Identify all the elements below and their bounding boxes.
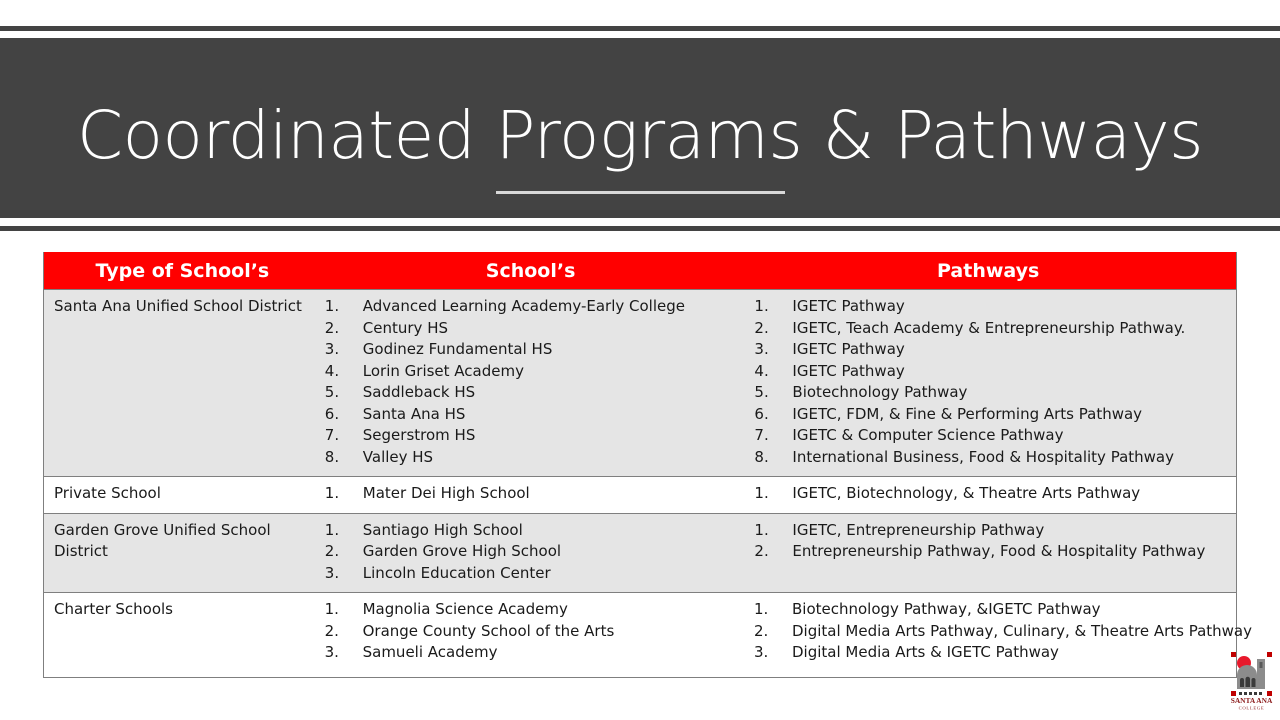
- list-number: 3.: [325, 339, 355, 361]
- list-text: Saddleback HS: [363, 383, 475, 401]
- list-number: 7.: [754, 425, 784, 447]
- list-number: 8.: [754, 447, 784, 469]
- logo-wordmark-secondary: COLLEGE: [1239, 706, 1265, 711]
- list-item: 7.IGETC & Computer Science Pathway: [754, 425, 1236, 447]
- list-number: 3.: [325, 563, 355, 585]
- list-number: 3.: [754, 642, 784, 664]
- column-header-type-of-schools: Type of School’s: [44, 252, 321, 289]
- list-item: 1.IGETC, Biotechnology, & Theatre Arts P…: [754, 483, 1236, 505]
- list-item: 2.Digital Media Arts Pathway, Culinary, …: [754, 621, 1236, 643]
- list-number: 6.: [325, 404, 355, 426]
- list-text: IGETC, Teach Academy & Entrepreneurship …: [792, 319, 1185, 337]
- list-text: IGETC Pathway: [792, 297, 904, 315]
- list-number: 2.: [754, 318, 784, 340]
- table-row: Garden Grove Unified School District 1.S…: [44, 513, 1236, 593]
- list-text: Lorin Griset Academy: [363, 362, 524, 380]
- list-text: Century HS: [363, 319, 448, 337]
- list-number: 2.: [325, 318, 355, 340]
- list-text: Digital Media Arts Pathway, Culinary, & …: [792, 622, 1252, 640]
- list-number: 1.: [754, 520, 784, 542]
- cell-pathways: 1.IGETC, Entrepreneurship Pathway 2.Entr…: [740, 514, 1236, 593]
- list-text: Segerstrom HS: [363, 426, 476, 444]
- list-text: Orange County School of the Arts: [363, 622, 615, 640]
- pathways-list: 1.IGETC, Entrepreneurship Pathway 2.Entr…: [754, 520, 1236, 563]
- schools-list: 1.Santiago High School 2.Garden Grove Hi…: [43, 520, 741, 585]
- pathways-list: 1.Biotechnology Pathway, &IGETC Pathway …: [754, 599, 1236, 664]
- santa-ana-college-logo: SANTA ANA COLLEGE: [1231, 651, 1273, 711]
- cell-schools: 1.Mater Dei High School: [321, 477, 741, 513]
- list-number: 4.: [325, 361, 355, 383]
- list-item: 8.International Business, Food & Hospita…: [754, 447, 1236, 469]
- schools-list: 1.Mater Dei High School: [43, 483, 741, 505]
- list-text: International Business, Food & Hospitali…: [792, 448, 1174, 466]
- list-number: 3.: [754, 339, 784, 361]
- list-text: Samueli Academy: [363, 643, 498, 661]
- list-item: 1.Biotechnology Pathway, &IGETC Pathway: [754, 599, 1236, 621]
- list-number: 5.: [325, 382, 355, 404]
- list-text: Godinez Fundamental HS: [363, 340, 553, 358]
- list-item: 2.Entrepreneurship Pathway, Food & Hospi…: [754, 541, 1236, 563]
- table-row: Santa Ana Unified School District 1.Adva…: [44, 290, 1236, 476]
- title-underline: [496, 191, 785, 194]
- table-row: Private School 1.Mater Dei High School 1…: [44, 476, 1236, 513]
- list-text: Lincoln Education Center: [363, 564, 551, 582]
- list-item: 7.Segerstrom HS: [325, 425, 741, 447]
- list-number: 1.: [325, 483, 355, 505]
- list-item: 2.IGETC, Teach Academy & Entrepreneurshi…: [754, 318, 1236, 340]
- list-item: 1.Magnolia Science Academy: [325, 599, 740, 621]
- list-number: 2.: [325, 621, 355, 643]
- column-header-pathways: Pathways: [740, 252, 1236, 289]
- cell-schools: 1.Santiago High School 2.Garden Grove Hi…: [321, 514, 741, 593]
- list-item: 5.Saddleback HS: [325, 382, 741, 404]
- list-item: 1.Mater Dei High School: [325, 483, 741, 505]
- title-banner: Coordinated Programs & Pathways: [0, 38, 1280, 218]
- list-item: 8.Valley HS: [325, 447, 741, 469]
- list-number: 4.: [754, 361, 784, 383]
- list-text: IGETC, FDM, & Fine & Performing Arts Pat…: [792, 405, 1142, 423]
- list-text: IGETC, Biotechnology, & Theatre Arts Pat…: [792, 484, 1140, 502]
- list-number: 8.: [325, 447, 355, 469]
- cell-pathways: 1.Biotechnology Pathway, &IGETC Pathway …: [740, 593, 1236, 677]
- list-text: Biotechnology Pathway: [792, 383, 967, 401]
- list-text: Advanced Learning Academy-Early College: [363, 297, 685, 315]
- programs-table: Type of School’s School’s Pathways Santa…: [43, 252, 1237, 678]
- cell-pathways: 1.IGETC, Biotechnology, & Theatre Arts P…: [740, 477, 1236, 513]
- list-text: Santa Ana HS: [363, 405, 466, 423]
- list-item: 4.Lorin Griset Academy: [325, 361, 741, 383]
- cell-schools: 1.Magnolia Science Academy 2.Orange Coun…: [321, 593, 740, 677]
- list-item: 2.Century HS: [325, 318, 741, 340]
- list-number: 1.: [325, 296, 355, 318]
- list-item: 6.Santa Ana HS: [325, 404, 741, 426]
- table-row: Charter Schools 1.Magnolia Science Acade…: [44, 592, 1236, 677]
- list-item: 2.Orange County School of the Arts: [325, 621, 740, 643]
- list-item: 3.Digital Media Arts & IGETC Pathway: [754, 642, 1236, 664]
- list-number: 2.: [754, 621, 784, 643]
- list-text: IGETC, Entrepreneurship Pathway: [792, 521, 1044, 539]
- logo-wordmark-primary: SANTA ANA: [1231, 696, 1273, 705]
- list-text: IGETC & Computer Science Pathway: [792, 426, 1063, 444]
- list-item: 1.IGETC, Entrepreneurship Pathway: [754, 520, 1236, 542]
- list-number: 1.: [754, 483, 784, 505]
- list-number: 1.: [754, 296, 784, 318]
- list-item: 1.Advanced Learning Academy-Early Colleg…: [325, 296, 741, 318]
- list-text: Entrepreneurship Pathway, Food & Hospita…: [792, 542, 1205, 560]
- list-number: 6.: [754, 404, 784, 426]
- list-number: 1.: [325, 599, 355, 621]
- list-item: 6.IGETC, FDM, & Fine & Performing Arts P…: [754, 404, 1236, 426]
- cell-pathways: 1.IGETC Pathway 2.IGETC, Teach Academy &…: [740, 290, 1236, 476]
- list-number: 5.: [754, 382, 784, 404]
- banner-top-rule: [0, 26, 1280, 31]
- list-number: 2.: [325, 541, 355, 563]
- table-header-row: Type of School’s School’s Pathways: [44, 252, 1236, 290]
- banner-bottom-rule: [0, 226, 1280, 231]
- list-number: 3.: [325, 642, 355, 664]
- list-text: Magnolia Science Academy: [363, 600, 568, 618]
- list-number: 1.: [325, 520, 355, 542]
- list-number: 1.: [754, 599, 784, 621]
- list-item: 4.IGETC Pathway: [754, 361, 1236, 383]
- list-text: Valley HS: [363, 448, 433, 466]
- list-text: IGETC Pathway: [792, 362, 904, 380]
- list-item: 1.IGETC Pathway: [754, 296, 1236, 318]
- list-item: 1.Santiago High School: [325, 520, 741, 542]
- list-item: 3.Godinez Fundamental HS: [325, 339, 741, 361]
- list-text: Digital Media Arts & IGETC Pathway: [792, 643, 1059, 661]
- schools-list: 1.Magnolia Science Academy 2.Orange Coun…: [43, 599, 740, 664]
- column-header-schools: School’s: [321, 252, 741, 289]
- list-item: 5.Biotechnology Pathway: [754, 382, 1236, 404]
- cell-schools: 1.Advanced Learning Academy-Early Colleg…: [321, 290, 741, 476]
- list-text: Garden Grove High School: [363, 542, 561, 560]
- list-item: 2.Garden Grove High School: [325, 541, 741, 563]
- pathways-list: 1.IGETC Pathway 2.IGETC, Teach Academy &…: [754, 296, 1236, 468]
- page-title: Coordinated Programs & Pathways: [0, 96, 1280, 176]
- pathways-list: 1.IGETC, Biotechnology, & Theatre Arts P…: [754, 483, 1236, 505]
- list-item: 3.Lincoln Education Center: [325, 563, 741, 585]
- list-text: Biotechnology Pathway, &IGETC Pathway: [792, 600, 1101, 618]
- list-text: Mater Dei High School: [363, 484, 530, 502]
- schools-list: 1.Advanced Learning Academy-Early Colleg…: [43, 296, 741, 468]
- list-item: 3.Samueli Academy: [325, 642, 740, 664]
- list-text: Santiago High School: [363, 521, 523, 539]
- list-number: 7.: [325, 425, 355, 447]
- list-number: 2.: [754, 541, 784, 563]
- list-text: IGETC Pathway: [792, 340, 904, 358]
- list-item: 3.IGETC Pathway: [754, 339, 1236, 361]
- slide-canvas: Coordinated Programs & Pathways Type of …: [0, 0, 1280, 720]
